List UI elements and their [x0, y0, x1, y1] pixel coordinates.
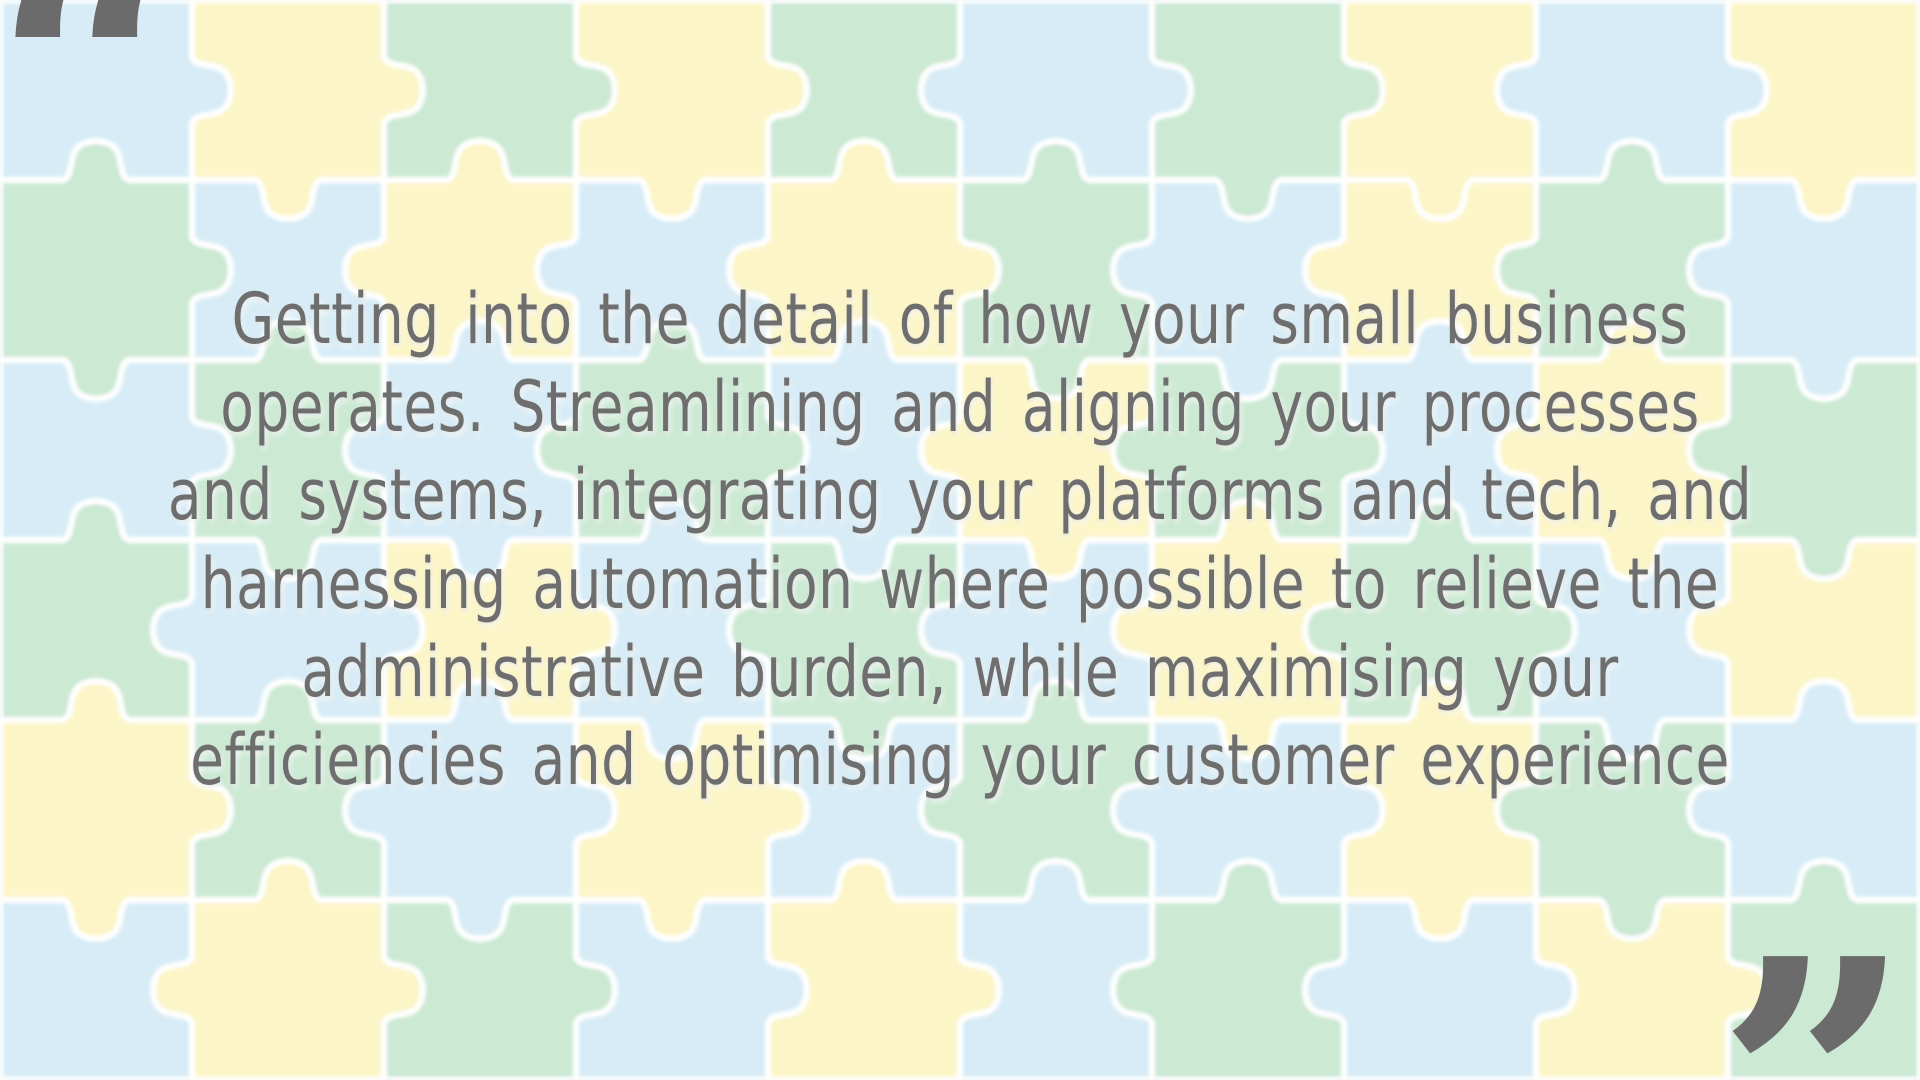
quote-line: Getting into the detail of how your smal…: [136, 270, 1785, 369]
quote-line: efficiencies and optimising your custome…: [136, 711, 1785, 810]
quote-card: “ Getting into the detail of how your sm…: [0, 0, 1920, 1080]
quote-line: administrative burden, while maximising …: [136, 623, 1785, 722]
quote-line: operates. Streamlining and aligning your…: [136, 358, 1785, 457]
quote-line: harnessing automation where possible to …: [136, 535, 1785, 634]
quote-line: and systems, integrating your platforms …: [136, 447, 1785, 546]
opening-quote-icon: “: [0, 0, 188, 244]
closing-quote-icon: ”: [1716, 916, 1912, 1080]
quote-text: Getting into the detail of how your smal…: [110, 275, 1810, 804]
